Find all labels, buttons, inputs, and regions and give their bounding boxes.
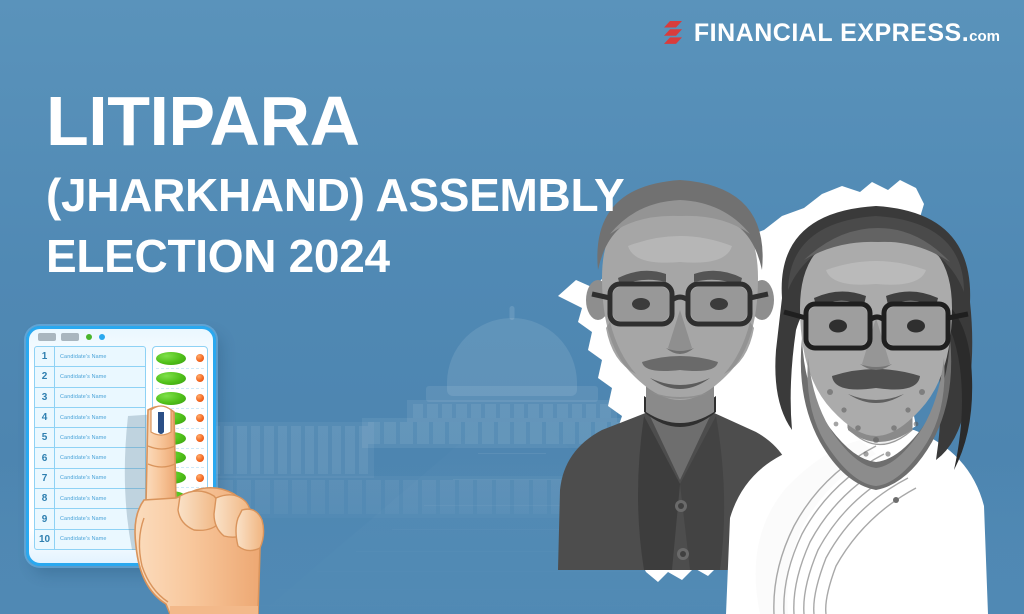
evm-status-bar: [38, 331, 204, 343]
candidate-number: 10: [35, 530, 55, 549]
candidate-name-label: Candidate's Name: [55, 415, 107, 421]
candidate-name-label: Candidate's Name: [55, 455, 107, 461]
candidate-name-label: Candidate's Name: [55, 354, 107, 360]
candidate-number: 6: [35, 448, 55, 467]
financial-express-stripes-icon: [662, 20, 684, 46]
page-title: LITIPARA (JHARKHAND) ASSEMBLY ELECTION 2…: [46, 88, 624, 287]
financial-express-logo[interactable]: FINANCIAL EXPRESS.com: [662, 20, 1000, 46]
brand-name-text: FINANCIAL EXPRESS: [694, 19, 962, 47]
candidate-number: 2: [35, 367, 55, 386]
candidate-name-label: Candidate's Name: [55, 516, 107, 522]
evm-slot-right: [61, 333, 79, 341]
candidate-right-portrait: [726, 178, 1024, 614]
candidate-row: 2Candidate's Name: [35, 367, 145, 387]
candidate-number: 1: [35, 347, 55, 366]
candidate-name-label: Candidate's Name: [55, 496, 107, 502]
candidate-name-label: Candidate's Name: [55, 536, 107, 542]
voter-ink-mark-icon: [158, 412, 164, 434]
vote-led-icon: [196, 374, 204, 382]
vote-button-row[interactable]: [156, 369, 204, 389]
candidate-number: 5: [35, 428, 55, 447]
candidate-name-label: Candidate's Name: [55, 435, 107, 441]
candidate-number: 8: [35, 489, 55, 508]
brand-name: FINANCIAL EXPRESS.com: [694, 21, 1000, 46]
brand-tld: com: [969, 28, 1000, 45]
election-graphic-card: FINANCIAL EXPRESS.com LITIPARA (JHARKHAN…: [0, 0, 1024, 614]
candidate-number: 7: [35, 469, 55, 488]
status-led-blue-icon: [99, 334, 105, 340]
candidate-number: 9: [35, 509, 55, 528]
headline-line-2: (JHARKHAND) ASSEMBLY: [46, 165, 624, 226]
constituency-name: LITIPARA: [46, 88, 624, 155]
candidate-name-label: Candidate's Name: [55, 475, 107, 481]
vote-led-icon: [196, 354, 204, 362]
candidate-name-label: Candidate's Name: [55, 374, 107, 380]
pointing-hand-icon: [118, 398, 268, 614]
evm-slot-left: [38, 333, 56, 341]
vote-button[interactable]: [156, 372, 186, 385]
vote-button-row[interactable]: [156, 349, 204, 369]
status-led-green-icon: [86, 334, 92, 340]
candidate-number: 4: [35, 408, 55, 427]
candidate-name-label: Candidate's Name: [55, 394, 107, 400]
candidate-number: 3: [35, 388, 55, 407]
vote-button[interactable]: [156, 352, 186, 365]
candidate-row: 1Candidate's Name: [35, 347, 145, 367]
headline-line-3: ELECTION 2024: [46, 226, 624, 287]
